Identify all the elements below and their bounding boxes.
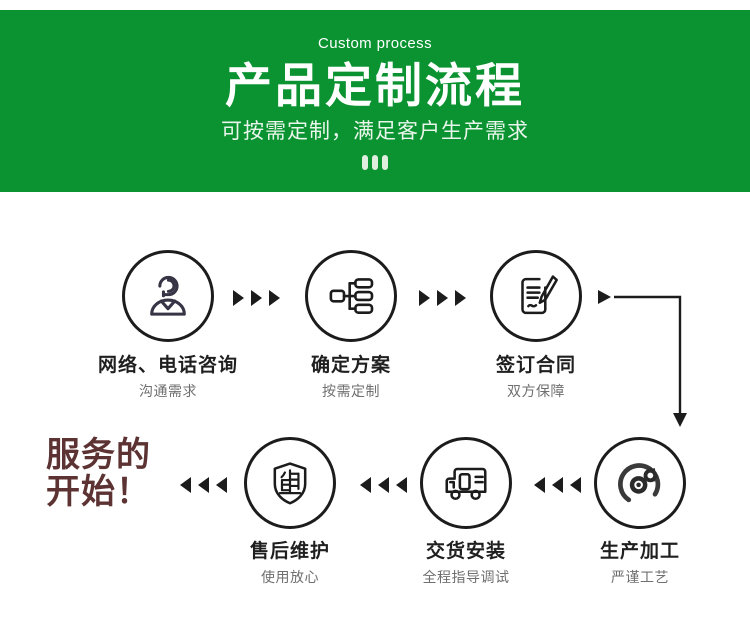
flow-step-contract[interactable]: 签订合同 双方保障	[461, 250, 611, 399]
header-dots-decoration	[362, 155, 388, 170]
headset-person-icon	[122, 250, 214, 342]
arrow-right-icon	[233, 290, 244, 306]
service-start-line1: 服务的	[46, 437, 151, 474]
arrow-left-icon	[360, 477, 371, 493]
arrow-down-icon	[673, 413, 687, 427]
service-start-label: 服务的 开始！	[46, 437, 151, 510]
flow-step-consultation[interactable]: 网络、电话咨询 沟通需求	[93, 250, 243, 399]
flow-step-desc: 使用放心	[215, 569, 365, 585]
flow-arrows-right-1	[233, 290, 280, 306]
flow-step-desc: 双方保障	[461, 383, 611, 399]
arrow-left-icon	[180, 477, 191, 493]
service-start-line2: 开始！	[46, 474, 151, 511]
flow-step-title: 交货安装	[391, 541, 541, 563]
flow-step-desc: 沟通需求	[93, 383, 243, 399]
flow-step-desc: 全程指导调试	[391, 569, 541, 585]
flow-step-plan[interactable]: 确定方案 按需定制	[276, 250, 426, 399]
flow-step-production[interactable]: 生产加工 严谨工艺	[565, 437, 715, 585]
flow-step-title: 签订合同	[461, 355, 611, 377]
header-subtitle: 可按需定制，满足客户生产需求	[221, 121, 529, 142]
page-header-banner: Custom process 产品定制流程 可按需定制，满足客户生产需求	[0, 10, 750, 192]
flow-step-after-sales[interactable]: 售后维护 使用放心	[215, 437, 365, 585]
flow-connector-l-shape	[596, 282, 696, 439]
flow-arrows-right-2	[419, 290, 466, 306]
header-eyebrow-text: Custom process	[318, 36, 432, 51]
flow-step-delivery[interactable]: 交货安装 全程指导调试	[391, 437, 541, 585]
arrow-left-icon	[534, 477, 545, 493]
header-dot	[372, 155, 378, 170]
arrow-right-icon	[251, 290, 262, 306]
flow-step-desc: 严谨工艺	[565, 569, 715, 585]
header-dot	[382, 155, 388, 170]
flow-step-title: 售后维护	[215, 541, 365, 563]
arrow-left-icon	[198, 477, 209, 493]
contract-pen-icon	[490, 250, 582, 342]
flow-step-title: 生产加工	[565, 541, 715, 563]
shield-after-sales-icon	[244, 437, 336, 529]
page-title: 产品定制流程	[225, 60, 525, 112]
flow-step-desc: 按需定制	[276, 383, 426, 399]
flow-step-title: 确定方案	[276, 355, 426, 377]
flow-step-title: 网络、电话咨询	[93, 355, 243, 377]
process-flow-diagram: 网络、电话咨询 沟通需求 确定方案 按需定制	[0, 192, 750, 634]
delivery-truck-icon	[420, 437, 512, 529]
org-chart-icon	[305, 250, 397, 342]
arrow-right-icon	[598, 290, 611, 304]
arrow-right-icon	[437, 290, 448, 306]
arrow-left-icon	[378, 477, 389, 493]
arrow-left-icon	[552, 477, 563, 493]
header-dot	[362, 155, 368, 170]
arrow-right-icon	[419, 290, 430, 306]
gears-production-icon	[594, 437, 686, 529]
